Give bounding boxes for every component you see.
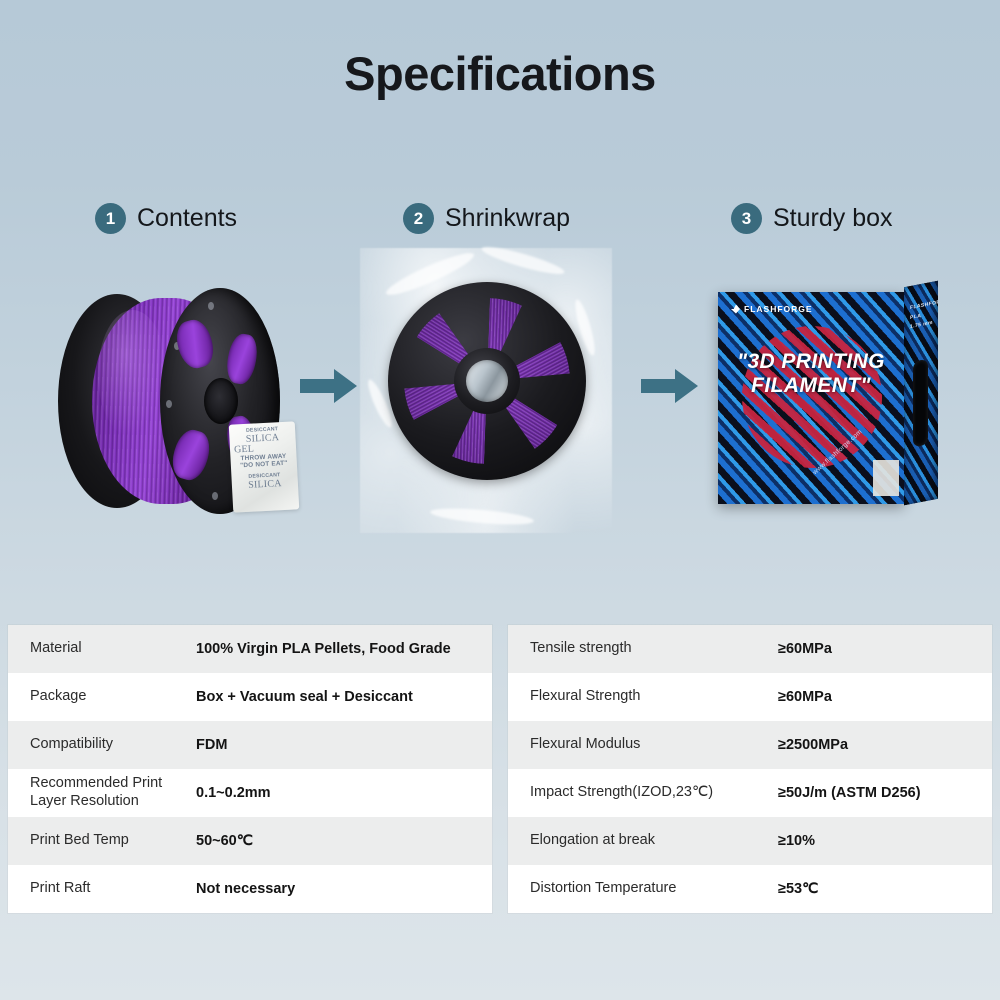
- spec-value: ≥10%: [778, 833, 815, 849]
- spec-value: ≥50J/m (ASTM D256): [778, 785, 921, 801]
- table-row: Tensile strength ≥60MPa: [508, 625, 992, 673]
- spec-key: Package: [30, 688, 196, 706]
- box-side-text: FLASHFORGE PLA 1.75 mm: [910, 297, 938, 333]
- spec-value: Not necessary: [196, 881, 295, 897]
- spool-front-view: [388, 282, 586, 480]
- step-label-3: Sturdy box: [773, 204, 893, 233]
- specifications-infographic: Specifications 1 Contents 2 Shrinkwrap 3…: [0, 0, 1000, 1000]
- desiccant-packet-image: DESICCANT SILICA GEL THROW AWAY "DO NOT …: [229, 421, 300, 512]
- table-row: Print Bed Temp 50~60℃: [8, 817, 492, 865]
- box-headline: "3D PRINTING FILAMENT": [718, 350, 904, 397]
- spec-key: Distortion Temperature: [530, 880, 778, 898]
- box-headline-line-2: FILAMENT": [718, 374, 904, 398]
- shrinkwrapped-spool-image: [360, 248, 612, 533]
- box-brand-name: FLASHFORGE: [744, 304, 813, 314]
- page-title: Specifications: [0, 46, 1000, 101]
- table-row: Package Box + Vacuum seal + Desiccant: [8, 673, 492, 721]
- table-row: Material 100% Virgin PLA Pellets, Food G…: [8, 625, 492, 673]
- spec-key: Flexural Modulus: [530, 736, 778, 754]
- spec-value: ≥60MPa: [778, 641, 832, 657]
- arrow-right-icon-1: [300, 368, 358, 404]
- step-label-1: Contents: [137, 204, 237, 233]
- spec-key: Flexural Strength: [530, 688, 778, 706]
- box-spec-sticker: [873, 460, 899, 496]
- spec-key: Print Bed Temp: [30, 832, 196, 850]
- step-number-badge-1: 1: [95, 203, 126, 234]
- arrow-right-icon-2: [641, 368, 699, 404]
- table-row: Flexural Modulus ≥2500MPa: [508, 721, 992, 769]
- spec-value: 0.1~0.2mm: [196, 785, 271, 801]
- table-row: Impact Strength(IZOD,23℃) ≥50J/m (ASTM D…: [508, 769, 992, 817]
- spec-table-left: Material 100% Virgin PLA Pellets, Food G…: [8, 625, 492, 913]
- spec-key: Impact Strength(IZOD,23℃): [530, 784, 778, 802]
- box-handle-cutout: [913, 359, 928, 448]
- spec-key: Elongation at break: [530, 832, 778, 850]
- desiccant-line-7: SILICA: [232, 478, 298, 492]
- spec-value: 50~60℃: [196, 833, 253, 849]
- step-header-sturdy-box: 3 Sturdy box: [731, 203, 893, 234]
- spec-key: Compatibility: [30, 736, 196, 754]
- box-headline-line-1: "3D PRINTING: [718, 350, 904, 374]
- spec-value: ≥53℃: [778, 881, 818, 897]
- spec-value: FDM: [196, 737, 227, 753]
- spool-rim-hole: [166, 400, 172, 408]
- spool-rim-hole: [208, 302, 214, 310]
- spec-key: Recommended Print Layer Resolution: [30, 775, 196, 811]
- box-brand-lockup: FLASHFORGE: [731, 304, 813, 314]
- spec-value: 100% Virgin PLA Pellets, Food Grade: [196, 641, 451, 657]
- table-row: Compatibility FDM: [8, 721, 492, 769]
- product-box-image: FLASHFORGE PLA 1.75 mm FLASHFORGE "3D PR…: [700, 282, 950, 514]
- spec-value: Box + Vacuum seal + Desiccant: [196, 689, 413, 705]
- box-side-panel: FLASHFORGE PLA 1.75 mm: [904, 281, 938, 506]
- spec-key: Material: [30, 640, 196, 658]
- table-row: Recommended Print Layer Resolution 0.1~0…: [8, 769, 492, 817]
- spool-center-bore: [466, 360, 508, 402]
- spool-rim-hole: [212, 492, 218, 500]
- spec-value: ≥60MPa: [778, 689, 832, 705]
- spec-value: ≥2500MPa: [778, 737, 848, 753]
- step-header-shrinkwrap: 2 Shrinkwrap: [403, 203, 570, 234]
- table-row: Elongation at break ≥10%: [508, 817, 992, 865]
- step-header-contents: 1 Contents: [95, 203, 237, 234]
- box-front-panel: FLASHFORGE "3D PRINTING FILAMENT" www.fl…: [718, 292, 904, 504]
- spool-hub: [204, 378, 238, 424]
- desiccant-line-5: "DO NOT EAT": [231, 460, 297, 470]
- step-number-badge-3: 3: [731, 203, 762, 234]
- table-row: Flexural Strength ≥60MPa: [508, 673, 992, 721]
- flashforge-logo-icon: [731, 305, 740, 314]
- step-label-2: Shrinkwrap: [445, 204, 570, 233]
- spec-key: Print Raft: [30, 880, 196, 898]
- spec-table-right: Tensile strength ≥60MPa Flexural Strengt…: [508, 625, 992, 913]
- step-number-badge-2: 2: [403, 203, 434, 234]
- table-row: Distortion Temperature ≥53℃: [508, 865, 992, 913]
- table-row: Print Raft Not necessary: [8, 865, 492, 913]
- spec-key: Tensile strength: [530, 640, 778, 658]
